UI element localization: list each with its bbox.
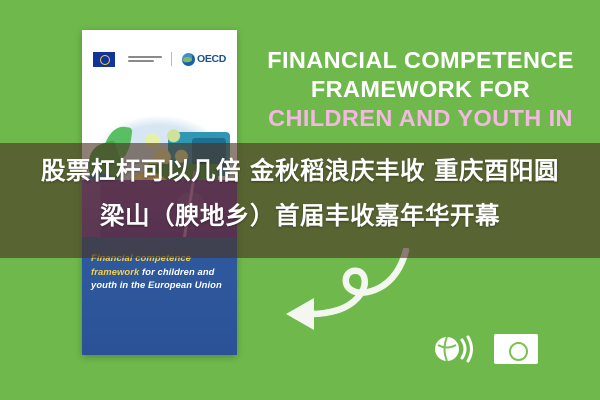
logo-divider (171, 52, 172, 66)
caption-line-1: 股票杠杆可以几倍 金秋稻浪庆丰收 重庆酉阳圆 (16, 148, 584, 193)
oecd-logo: OECD (182, 53, 226, 66)
screenshot-root: FINANCIAL COMPETENCE FRAMEWORK FOR CHILD… (0, 0, 600, 400)
headline-line-1: FINANCIAL COMPETENCE (248, 46, 593, 75)
eu-flag-icon (93, 52, 115, 67)
caption-line-2: 梁山（腴地乡）首届丰收嘉年华开幕 (16, 193, 584, 238)
poster-headline: FINANCIAL COMPETENCE FRAMEWORK FOR CHILD… (248, 46, 593, 133)
headline-line-3: CHILDREN AND YOUTH IN (248, 104, 593, 133)
cover-title-line-3: youth in the European Union (91, 279, 222, 290)
cover-title-for-children: for children and (139, 266, 214, 277)
oecd-wordmark: OECD (197, 53, 226, 65)
headline-line-2: FRAMEWORK FOR (248, 75, 593, 104)
oecd-globe-icon (182, 53, 195, 66)
globe-sound-waves-icon (432, 332, 476, 366)
banknote-icon (494, 334, 538, 364)
bottom-icon-row (432, 326, 572, 372)
cover-title-framework: framework (91, 266, 139, 277)
caption-text: 股票杠杆可以几倍 金秋稻浪庆丰收 重庆酉阳圆 梁山（腴地乡）首届丰收嘉年华开幕 (0, 148, 600, 238)
european-commission-wordmark (128, 56, 162, 62)
booklet-logo-row: OECD (82, 48, 237, 70)
